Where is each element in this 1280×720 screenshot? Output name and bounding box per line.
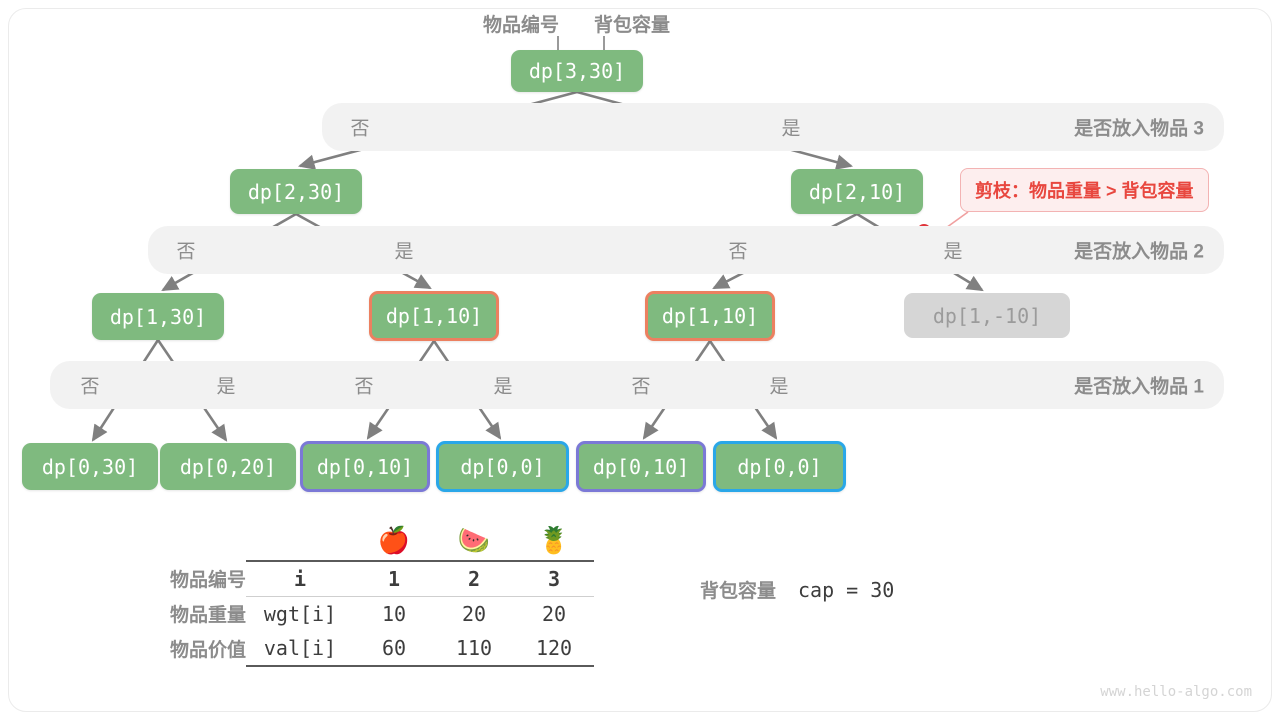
table-row-label: 物品重量 xyxy=(170,596,246,631)
tree-node-l000b: dp[0,0] xyxy=(713,441,846,492)
branch-label: 否 xyxy=(80,372,99,399)
diagram-canvas: 是否放入物品 3否是是否放入物品 2否是否是是否放入物品 1否是否是否是 物品编… xyxy=(0,0,1280,720)
table-cell: 10 xyxy=(354,596,434,631)
branch-label: 否 xyxy=(728,237,747,264)
capacity-note: 背包容量 cap = 30 xyxy=(700,576,894,603)
table-cell: 3 xyxy=(514,561,594,596)
tree-node-n210: dp[2,10] xyxy=(791,169,923,214)
tree-node-l010b: dp[0,10] xyxy=(576,441,706,492)
decision-bar-title: 是否放入物品 3 xyxy=(1074,114,1204,141)
table-row-name: wgt[i] xyxy=(246,596,354,631)
top-caption-0: 物品编号 xyxy=(483,10,559,37)
tree-node-l030: dp[0,30] xyxy=(22,443,158,490)
decision-bar-row1: 是否放入物品 1否是否是否是 xyxy=(50,361,1224,409)
decision-bar-title: 是否放入物品 2 xyxy=(1074,237,1204,264)
branch-label: 是 xyxy=(394,237,413,264)
decision-bar-title: 是否放入物品 1 xyxy=(1074,372,1204,399)
tree-node-n110b: dp[1,10] xyxy=(645,291,775,341)
prune-annotation: 剪枝：物品重量 > 背包容量 xyxy=(960,168,1209,212)
table-row-name: i xyxy=(246,561,354,596)
tree-node-n1m10: dp[1,-10] xyxy=(904,293,1070,338)
table-cell: 60 xyxy=(354,631,434,666)
branch-label: 否 xyxy=(176,237,195,264)
capacity-label: 背包容量 xyxy=(700,576,776,603)
table-row-label: 物品价值 xyxy=(170,631,246,666)
tree-node-n110a: dp[1,10] xyxy=(369,291,499,341)
table-cell: 120 xyxy=(514,631,594,666)
branch-label: 是 xyxy=(781,114,800,141)
table-cell: 110 xyxy=(434,631,514,666)
decision-bar-row3: 是否放入物品 3否是 xyxy=(322,103,1224,151)
watermark: www.hello-algo.com xyxy=(1100,684,1252,700)
item-emoji-1: 🍎 xyxy=(354,522,434,561)
tree-node-l000a: dp[0,0] xyxy=(436,441,569,492)
branch-label: 否 xyxy=(350,114,369,141)
branch-label: 是 xyxy=(943,237,962,264)
emoji-row-spacer2 xyxy=(246,522,354,561)
branch-label: 是 xyxy=(493,372,512,399)
tree-node-n130: dp[1,30] xyxy=(92,293,224,340)
decision-bar-row2: 是否放入物品 2否是否是 xyxy=(148,226,1224,274)
item-spec-table: 🍎🍉🍍物品编号i123物品重量wgt[i]102020物品价值val[i]601… xyxy=(170,522,594,667)
branch-label: 否 xyxy=(631,372,650,399)
table-row: 物品价值val[i]60110120 xyxy=(170,631,594,666)
table-row-name: val[i] xyxy=(246,631,354,666)
branch-label: 是 xyxy=(769,372,788,399)
table-cell: 20 xyxy=(434,596,514,631)
branch-label: 是 xyxy=(216,372,235,399)
table-row: 物品编号i123 xyxy=(170,561,594,596)
item-emoji-2: 🍉 xyxy=(434,522,514,561)
top-caption-1: 背包容量 xyxy=(594,10,670,37)
item-emoji-3: 🍍 xyxy=(514,522,594,561)
tree-node-l010a: dp[0,10] xyxy=(300,441,430,492)
tree-node-l020: dp[0,20] xyxy=(160,443,296,490)
table-row: 物品重量wgt[i]102020 xyxy=(170,596,594,631)
capacity-value: cap = 30 xyxy=(798,578,894,602)
emoji-row-spacer xyxy=(170,522,246,561)
table-cell: 1 xyxy=(354,561,434,596)
tree-node-n230: dp[2,30] xyxy=(230,169,362,214)
table-cell: 2 xyxy=(434,561,514,596)
table-cell: 20 xyxy=(514,596,594,631)
table-row-label: 物品编号 xyxy=(170,561,246,596)
branch-label: 否 xyxy=(354,372,373,399)
table-row-emoji: 🍎🍉🍍 xyxy=(170,522,594,561)
tree-node-n30: dp[3,30] xyxy=(511,50,643,92)
